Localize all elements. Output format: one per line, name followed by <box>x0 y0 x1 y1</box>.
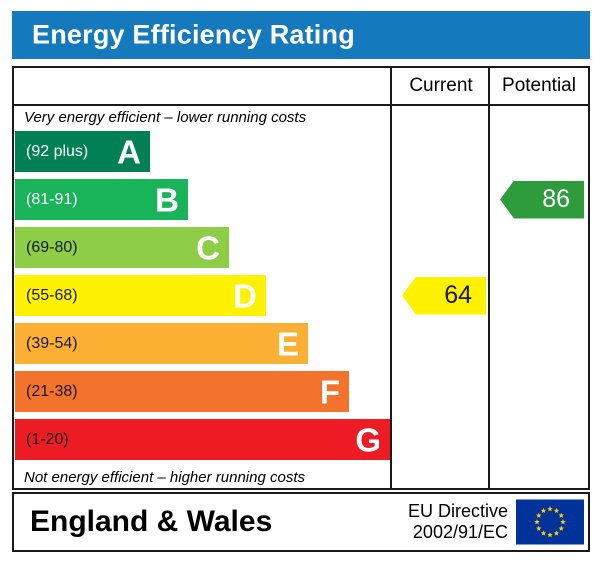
eu-flag-icon <box>516 500 584 545</box>
band-d: (55-68)D <box>15 275 266 316</box>
note-very-efficient: Very energy efficient – lower running co… <box>24 109 306 126</box>
note-not-efficient: Not energy efficient – higher running co… <box>24 469 305 486</box>
energy-efficiency-rating-chart: Energy Efficiency Rating Current Potenti… <box>0 0 603 564</box>
column-header-current: Current <box>392 68 490 104</box>
band-letter-b: B <box>155 183 179 216</box>
eu-directive-line-1: EU Directive <box>386 501 508 522</box>
band-g: (1-20)G <box>15 419 390 460</box>
band-f: (21-38)F <box>15 371 349 412</box>
band-e: (39-54)E <box>15 323 308 364</box>
band-c: (69-80)C <box>15 227 229 268</box>
column-divider-2 <box>488 68 490 488</box>
rating-value-potential: 86 <box>542 185 570 214</box>
band-letter-g: G <box>355 423 381 456</box>
band-a: (92 plus)A <box>15 131 150 172</box>
band-range-f: (21-38) <box>26 383 78 401</box>
footer-bar: England & Wales EU Directive 2002/91/EC <box>12 492 590 552</box>
column-divider-1 <box>390 68 392 488</box>
region-label: England & Wales <box>30 505 272 539</box>
table-header-row: Current Potential <box>14 68 588 106</box>
rating-arrow-current: 64 <box>402 277 486 315</box>
band-range-a: (92 plus) <box>26 143 88 161</box>
band-letter-a: A <box>117 135 141 168</box>
band-area: Very energy efficient – lower running co… <box>14 106 390 490</box>
band-range-c: (69-80) <box>26 239 78 257</box>
band-b: (81-91)B <box>15 179 188 220</box>
band-letter-e: E <box>277 327 299 360</box>
band-range-g: (1-20) <box>26 431 69 449</box>
rating-arrow-potential: 86 <box>500 181 584 219</box>
eu-directive-label: EU Directive 2002/91/EC <box>386 501 508 543</box>
band-letter-f: F <box>320 375 340 408</box>
band-range-d: (55-68) <box>26 287 78 305</box>
rating-value-current: 64 <box>444 281 472 310</box>
band-letter-d: D <box>233 279 257 312</box>
chart-title-bar: Energy Efficiency Rating <box>12 11 590 59</box>
rating-table: Current Potential Very energy efficient … <box>12 66 590 490</box>
band-range-b: (81-91) <box>26 191 78 209</box>
band-letter-c: C <box>196 231 220 264</box>
band-range-e: (39-54) <box>26 335 78 353</box>
column-header-potential: Potential <box>490 68 588 104</box>
eu-directive-line-2: 2002/91/EC <box>386 522 508 543</box>
page-title: Energy Efficiency Rating <box>32 20 355 51</box>
